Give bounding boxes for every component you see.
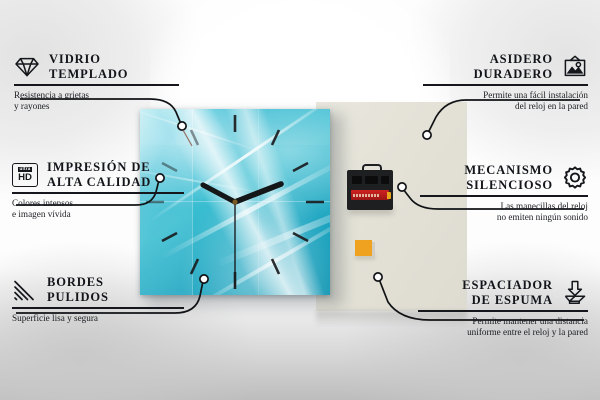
infographic-canvas: VIDRIO TEMPLADO Resistencia a grietas y …	[0, 0, 600, 400]
feature-espaciador-de-espuma: ESPACIADOR DE ESPUMA Permite mantener un…	[418, 278, 588, 338]
feature-title: ASIDERO DURADERO	[474, 52, 553, 81]
feature-title: MECANISMO SILENCIOSO	[464, 163, 553, 192]
feature-description: Las manecillas del reloj no emiten ningú…	[420, 201, 588, 223]
feature-bordes-pulidos: BORDES PULIDOS Superficie lisa y segura	[12, 275, 184, 324]
arrow-press-foam-icon	[562, 280, 588, 306]
feature-asidero-duradero: ASIDERO DURADERO Permite una fácil insta…	[423, 52, 588, 112]
feature-divider	[14, 84, 179, 86]
feature-description: Resistencia a grietas y rayones	[14, 90, 179, 112]
connector-dot-bordes	[200, 275, 208, 283]
feature-divider	[420, 195, 588, 197]
feature-title: VIDRIO TEMPLADO	[49, 52, 128, 81]
feature-divider	[12, 192, 184, 194]
feature-description: Colores intensos e imagen vívida	[12, 198, 184, 220]
polished-edges-icon	[12, 277, 38, 303]
connector-dot-asidero	[423, 131, 431, 139]
feature-title: BORDES PULIDOS	[47, 275, 109, 304]
feature-title: IMPRESIÓN DE ALTA CALIDAD	[47, 160, 151, 189]
feature-description: Permite mantener una distancia uniforme …	[418, 316, 588, 338]
connector-dot-mecanismo	[398, 183, 406, 191]
feature-impresion-alta-calidad: ultra HD IMPRESIÓN DE ALTA CALIDAD Color…	[12, 160, 184, 220]
ultra-hd-icon-large-text: HD	[18, 173, 32, 183]
feature-vidrio-templado: VIDRIO TEMPLADO Resistencia a grietas y …	[14, 52, 179, 112]
feature-divider	[12, 307, 184, 309]
feature-divider	[418, 310, 588, 312]
connector-dot-espaciador	[374, 273, 382, 281]
feature-mecanismo-silencioso: MECANISMO SILENCIOSO Las manecillas del …	[420, 163, 588, 223]
connector-dot-vidrio	[178, 122, 186, 130]
feature-title: ESPACIADOR DE ESPUMA	[462, 278, 553, 307]
framed-picture-hanging-icon	[562, 54, 588, 80]
feature-description: Superficie lisa y segura	[12, 313, 184, 324]
diamond-icon	[14, 54, 40, 80]
feature-description: Permite una fácil instalación del reloj …	[423, 90, 588, 112]
feature-divider	[423, 84, 588, 86]
gear-icon	[562, 165, 588, 191]
ultra-hd-icon: ultra HD	[12, 162, 38, 188]
